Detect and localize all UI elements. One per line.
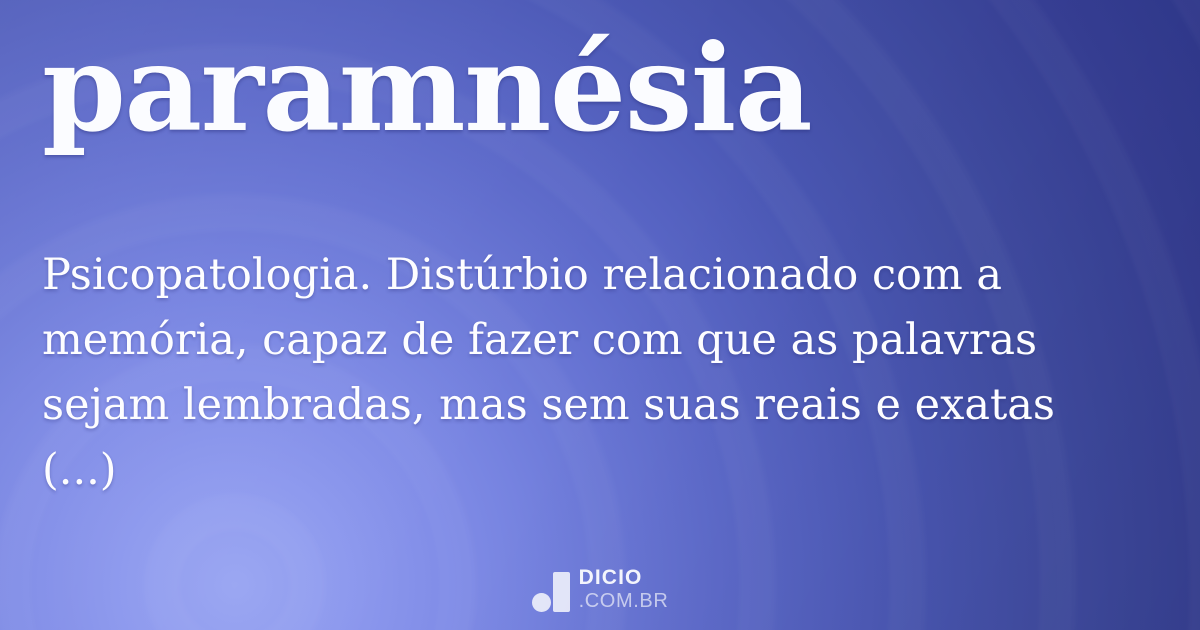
logo-wordmark: DICIO .COM.BR — [579, 567, 669, 612]
card-content: paramnésia Psicopatologia. Distúrbio rel… — [0, 0, 1200, 630]
definition-line-3: sejam lembradas, mas sem suas reais e ex… — [42, 373, 1154, 438]
definition-line-ellipsis: (...) — [42, 438, 1154, 503]
definition-text: Psicopatologia. Distúrbio relacionado co… — [42, 243, 1154, 503]
definition-line-2: memória, capaz de fazer com que as palav… — [42, 308, 1154, 373]
logo-tld-text: .COM.BR — [579, 591, 669, 611]
logo-brand-text: DICIO — [579, 567, 643, 588]
dicio-square-circle-icon — [532, 572, 570, 612]
headword-title: paramnésia — [42, 24, 811, 154]
definition-line-1: Psicopatologia. Distúrbio relacionado co… — [42, 243, 1154, 308]
dicio-word-card: paramnésia Psicopatologia. Distúrbio rel… — [0, 0, 1200, 630]
dicio-logo: DICIO .COM.BR — [0, 567, 1200, 612]
